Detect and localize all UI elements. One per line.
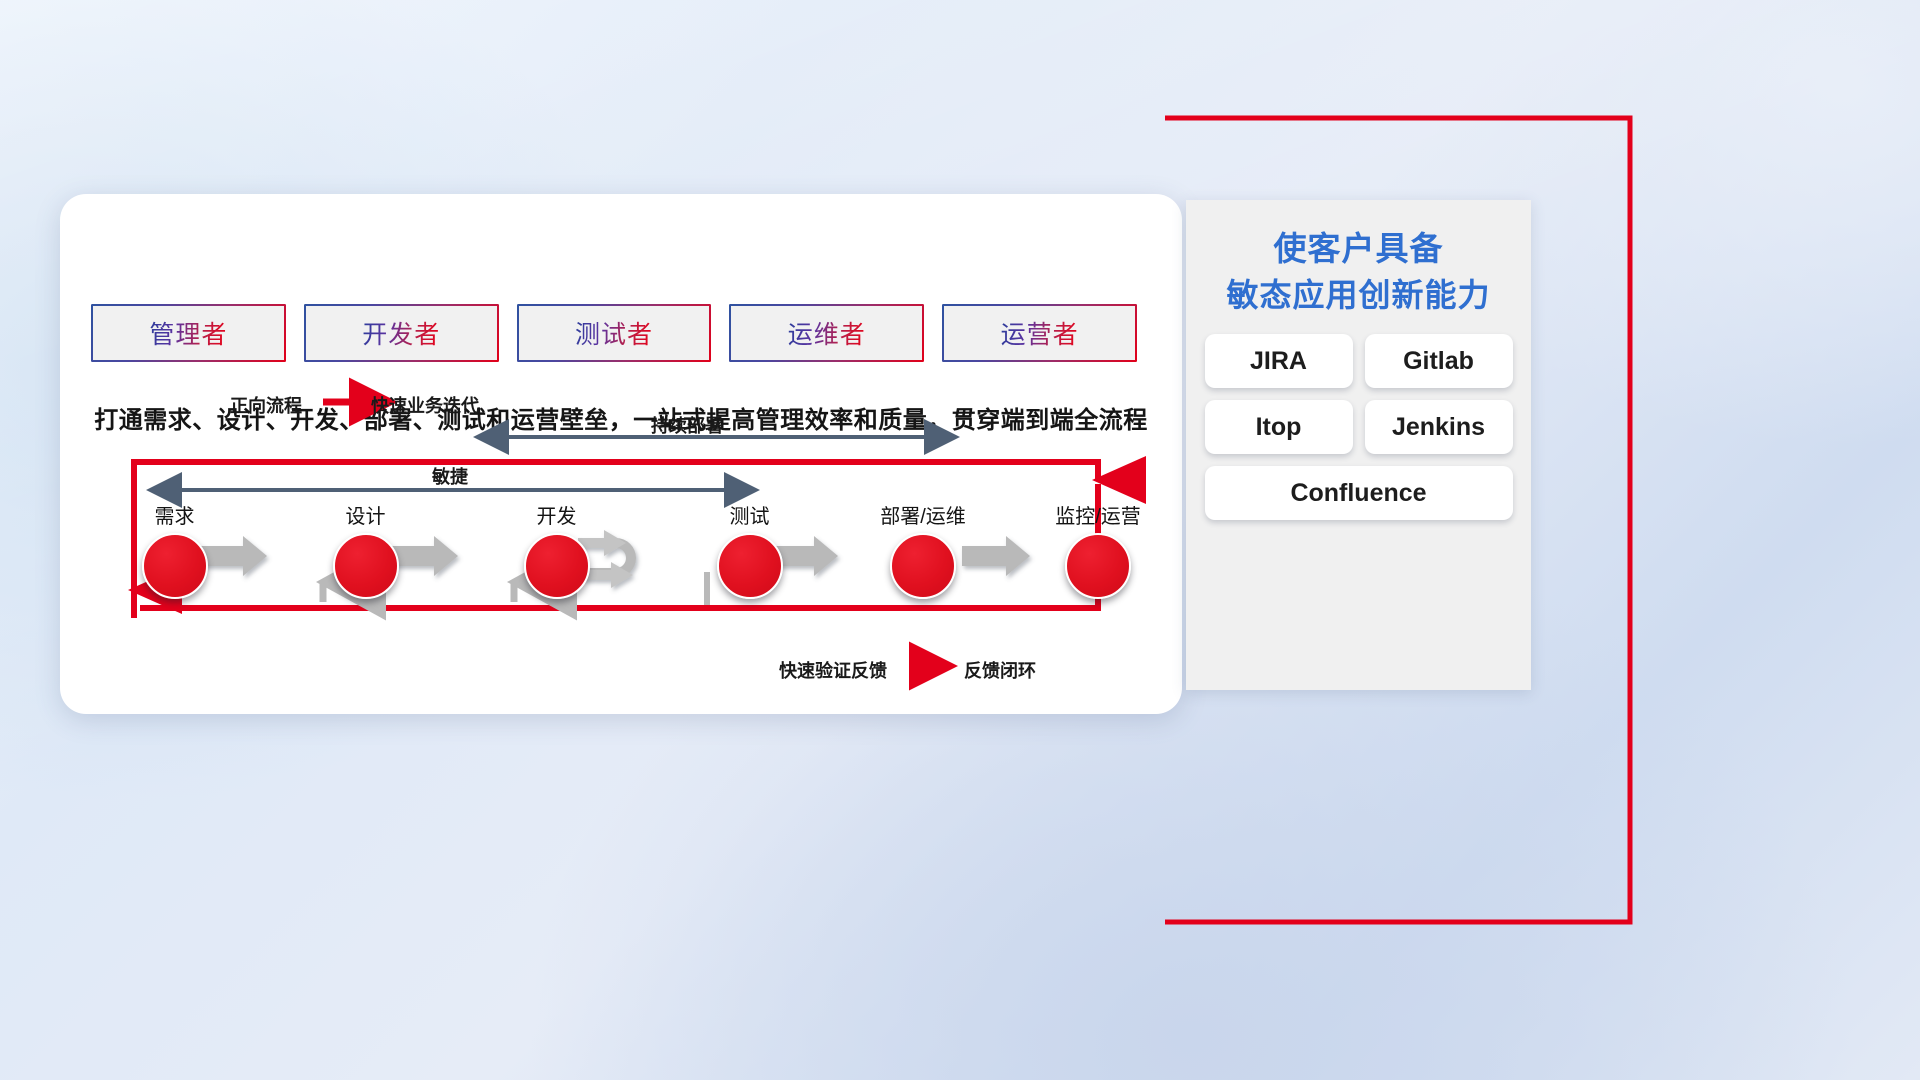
stage-dot <box>142 533 208 599</box>
tool-chip-confluence[interactable]: Confluence <box>1205 466 1513 520</box>
pipeline-stage-2[interactable]: 开发 <box>484 500 629 599</box>
pipeline-stage-4[interactable]: 部署/运维 <box>828 500 1018 599</box>
right-panel-title: 使客户具备 敏态应用创新能力 <box>1186 226 1531 318</box>
label-feedback-loop: 反馈闭环 <box>964 657 1036 683</box>
tool-chip-jenkins[interactable]: Jenkins <box>1365 400 1513 454</box>
label-continuous-deployment: 持续部署 <box>651 412 723 438</box>
stage-dot <box>890 533 956 599</box>
tool-chip-itop[interactable]: Itop <box>1205 400 1353 454</box>
stage-dot <box>524 533 590 599</box>
pipeline-stage-3[interactable]: 测试 <box>677 500 822 599</box>
right-panel-title-line1: 使客户具备 <box>1186 226 1531 273</box>
tool-list: JIRA Gitlab Itop Jenkins Confluence <box>1196 334 1521 520</box>
stage-label: 需求 <box>102 500 247 529</box>
pipeline-stage-5[interactable]: 监控/运营 <box>1003 500 1193 599</box>
label-fast-verify: 快速验证反馈 <box>779 657 887 683</box>
right-panel-title-line2: 敏态应用创新能力 <box>1186 273 1531 318</box>
tool-chip-jira[interactable]: JIRA <box>1205 334 1353 388</box>
stage-label: 开发 <box>484 500 629 529</box>
stage-label: 监控/运营 <box>1003 500 1193 529</box>
tool-chip-gitlab[interactable]: Gitlab <box>1365 334 1513 388</box>
label-forward-flow: 正向流程 <box>230 392 302 418</box>
stage-dot <box>717 533 783 599</box>
stage-label: 设计 <box>293 500 438 529</box>
label-agile: 敏捷 <box>432 463 468 489</box>
stage-dot <box>333 533 399 599</box>
pipeline-stage-1[interactable]: 设计 <box>293 500 438 599</box>
label-forward-flow-result: 快速业务迭代 <box>371 392 479 418</box>
stage-label: 部署/运维 <box>828 500 1018 529</box>
stage-dot <box>1065 533 1131 599</box>
pipeline-stage-0[interactable]: 需求 <box>102 500 247 599</box>
stage-label: 测试 <box>677 500 822 529</box>
right-panel: 使客户具备 敏态应用创新能力 JIRA Gitlab Itop Jenkins … <box>1186 200 1531 690</box>
pipeline-row: 需求 设计 开发 测试 部署/运维 监控/运营 <box>60 500 1182 620</box>
